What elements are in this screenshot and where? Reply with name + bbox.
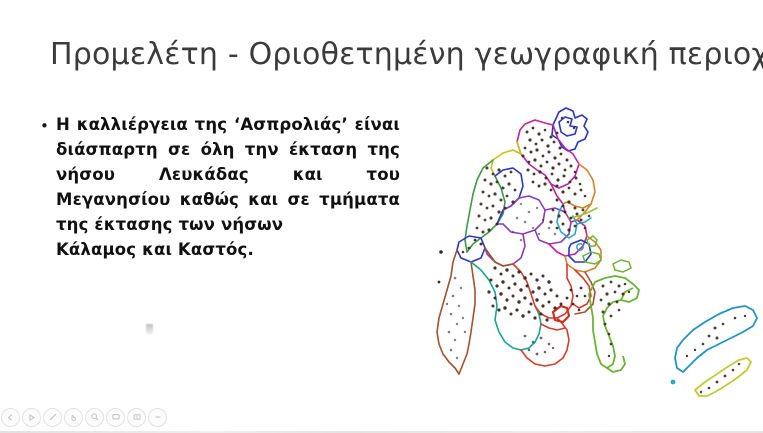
region-outline-southwest-blue-box	[457, 236, 485, 262]
map-figure	[425, 92, 763, 397]
region-outline-south-red-3	[541, 324, 565, 330]
region-outline-east-orange-2	[563, 202, 591, 208]
region-outline-west-blue	[495, 168, 523, 224]
bullet-marker: •	[40, 112, 56, 134]
region-outline-north-blue	[552, 108, 588, 151]
lefkada-region-map	[425, 92, 763, 397]
slide-list-button[interactable]	[127, 408, 146, 427]
bullet-list-item: • Η καλλιέργεια της ‘Ασπρολιάς’ είναι δι…	[40, 112, 400, 262]
region-outline-central-purple-3	[535, 208, 571, 244]
pointer-tool-button[interactable]	[64, 408, 83, 427]
map-island-meganisi	[589, 276, 639, 372]
region-outline-northwest-magenta	[517, 120, 579, 188]
screen-view-button[interactable]	[106, 408, 125, 427]
magnifier-icon	[90, 412, 100, 422]
slide-title: Προμελέτη - Οριοθετημένη γεωγραφική περι…	[50, 38, 750, 73]
region-outline-southwest-brown	[437, 250, 459, 374]
play-icon	[27, 413, 36, 422]
zoom-tool-button[interactable]	[85, 408, 104, 427]
map-outlier-point-west	[439, 250, 443, 254]
chevron-left-icon	[6, 413, 15, 422]
region-outline-south-red-4	[573, 270, 591, 308]
map-outlier-point-west-2	[438, 281, 441, 284]
region-outline-west-green-2	[467, 176, 505, 252]
previous-slide-button[interactable]	[1, 408, 20, 427]
region-outline-central-purple-2	[485, 234, 525, 266]
map-island-kastos	[695, 358, 751, 396]
presentation-slide: Προμελέτη - Οριοθετημένη γεωγραφική περι…	[0, 0, 763, 433]
hand-icon	[69, 413, 78, 422]
play-slide-button[interactable]	[22, 408, 41, 427]
slide-control-bar[interactable]	[0, 405, 763, 429]
bullet-paragraph-last-line: Κάλαμος και Καστός.	[56, 237, 400, 262]
region-outline-east-orange	[577, 164, 595, 220]
bullet-paragraph-main: Η καλλιέργεια της ‘Ασπρολιάς’ είναι διάσ…	[56, 115, 400, 234]
pen-icon	[48, 412, 58, 422]
more-options-button[interactable]	[148, 408, 167, 427]
bullet-paragraph: Η καλλιέργεια της ‘Ασπρολιάς’ είναι διάσ…	[56, 112, 400, 262]
slide-body: • Η καλλιέργεια της ‘Ασπρολιάς’ είναι δι…	[40, 112, 400, 262]
region-outline-west-yellow	[493, 142, 521, 160]
grid-icon	[132, 412, 142, 422]
monitor-icon	[111, 412, 121, 422]
ellipsis-icon	[153, 412, 163, 422]
region-outline-south-teal-2	[521, 306, 541, 350]
map-region-outlines	[437, 108, 601, 374]
scan-artifact	[146, 324, 153, 334]
region-outline-north-blue-inner	[559, 117, 577, 136]
map-islet-cyan-small	[671, 380, 676, 385]
pen-tool-button[interactable]	[43, 408, 62, 427]
region-outline-southwest-brown-2	[459, 262, 475, 374]
